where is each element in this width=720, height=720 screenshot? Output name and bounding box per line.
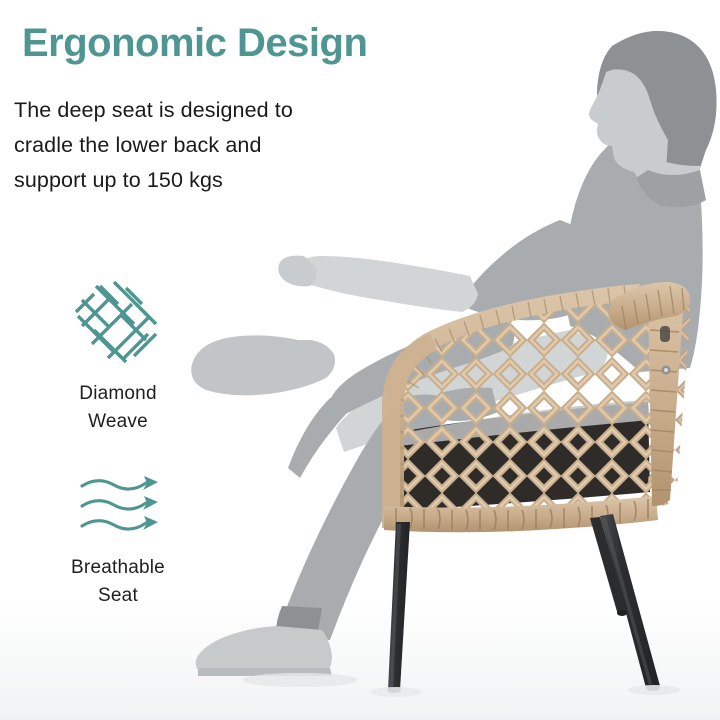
crossed-shoe — [191, 335, 335, 395]
feature-label-line-1: Diamond — [28, 380, 208, 408]
forearm-sleeve — [296, 256, 479, 312]
feature-label-line-2: Seat — [28, 582, 208, 610]
description-line-3: support up to 150 kgs — [14, 163, 293, 198]
feature-breathable-seat-label: Breathable Seat — [28, 554, 208, 609]
description-text: The deep seat is designed to cradle the … — [14, 93, 293, 197]
airflow-waves-icon — [28, 468, 208, 544]
page-title: Ergonomic Design — [22, 22, 367, 65]
product-feature-card: Ergonomic Design The deep seat is design… — [0, 0, 720, 720]
floor-surface — [0, 600, 720, 720]
feature-label-line-2: Weave — [28, 408, 208, 436]
feature-diamond-weave-label: Diamond Weave — [28, 380, 208, 435]
description-line-2: cradle the lower back and — [14, 128, 293, 163]
description-line-1: The deep seat is designed to — [14, 93, 293, 128]
diamond-weave-icon — [28, 272, 208, 370]
feature-label-line-1: Breathable — [28, 554, 208, 582]
feature-breathable-seat: Breathable Seat — [28, 468, 208, 609]
feature-diamond-weave: Diamond Weave — [28, 272, 208, 435]
